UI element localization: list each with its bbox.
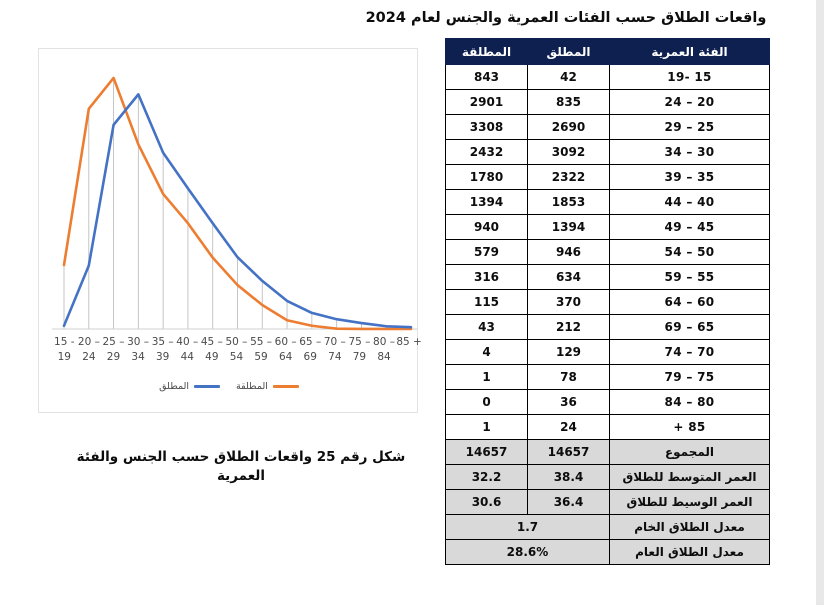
table-row: 60 – 64370115 — [446, 290, 770, 315]
x-tick-label: 40 – — [175, 335, 200, 350]
cell-summary-female: 32.2 — [446, 465, 528, 490]
cell-female-count: 3308 — [446, 115, 528, 140]
table-row: 65 – 6921243 — [446, 315, 770, 340]
cell-age-group: 50 – 54 — [610, 240, 770, 265]
x-tick-label: 30 – — [126, 335, 151, 350]
table-row: 80 – 84360 — [446, 390, 770, 415]
cell-female-count: 940 — [446, 215, 528, 240]
cell-male-count: 212 — [528, 315, 610, 340]
x-tick-label: 15 - — [52, 335, 77, 350]
cell-summary-value: 28.6% — [446, 540, 610, 565]
table-row: 25 – 2926903308 — [446, 115, 770, 140]
cell-male-count: 36 — [528, 390, 610, 415]
legend-item-male-series: المطلق — [159, 381, 220, 392]
x-tick-sublabel: 79 — [347, 350, 372, 365]
x-tick-sublabel: 54 — [224, 350, 249, 365]
cell-age-group: 70 – 74 — [610, 340, 770, 365]
x-tick-sublabel: 84 — [372, 350, 397, 365]
x-tick-label: 65 – — [298, 335, 323, 350]
x-tick-sublabel: 39 — [150, 350, 175, 365]
x-tick-sublabel: 19 — [52, 350, 77, 365]
cell-age-group: 25 – 29 — [610, 115, 770, 140]
cell-female-count: 1394 — [446, 190, 528, 215]
cell-male-count: 2322 — [528, 165, 610, 190]
cell-male-count: 1394 — [528, 215, 610, 240]
chart-plot-area — [39, 49, 419, 343]
x-tick-sublabel: 69 — [298, 350, 323, 365]
x-tick-sublabel: 59 — [249, 350, 274, 365]
x-axis-labels-top: 15 -20 –25 –30 –35 –40 –45 –50 –55 –60 –… — [39, 335, 432, 350]
legend-swatch-icon — [273, 385, 299, 388]
x-tick-sublabel: 74 — [323, 350, 348, 365]
cell-female-count: 843 — [446, 65, 528, 90]
header-age-group: الفئة العمرية — [610, 39, 770, 65]
table-summary-row: معدل الطلاق العام28.6% — [446, 540, 770, 565]
cell-age-group: 20 – 24 — [610, 90, 770, 115]
cell-summary-male: 36.4 — [528, 490, 610, 515]
cell-age-group: 65 – 69 — [610, 315, 770, 340]
header-male: المطلق — [528, 39, 610, 65]
cell-male-count: 129 — [528, 340, 610, 365]
cell-age-group: 15 -19 — [610, 65, 770, 90]
table-row: 70 – 741294 — [446, 340, 770, 365]
x-tick-sublabel: 34 — [126, 350, 151, 365]
x-tick-label: 50 – — [224, 335, 249, 350]
cell-age-group: 80 – 84 — [610, 390, 770, 415]
cell-female-count: 115 — [446, 290, 528, 315]
page-canvas: 15 -20 –25 –30 –35 –40 –45 –50 –55 –60 –… — [0, 0, 824, 605]
table-summary-row: معدل الطلاق الخام1.7 — [446, 515, 770, 540]
x-tick-label: 80 – — [372, 335, 397, 350]
cell-female-count: 2901 — [446, 90, 528, 115]
cell-male-count: 1853 — [528, 190, 610, 215]
x-tick-label: 45 – — [200, 335, 225, 350]
cell-summary-label: المجموع — [610, 440, 770, 465]
cell-male-count: 634 — [528, 265, 610, 290]
cell-female-count: 1780 — [446, 165, 528, 190]
legend-swatch-icon — [194, 385, 220, 388]
cell-summary-female: 14657 — [446, 440, 528, 465]
cell-summary-label: العمر الوسيط للطلاق — [610, 490, 770, 515]
table-row: 40 – 4418531394 — [446, 190, 770, 215]
x-tick-label: 20 – — [77, 335, 102, 350]
figure-caption: شكل رقم 25 واقعات الطلاق حسب الجنس والفئ… — [52, 448, 430, 486]
x-tick-label: 75 – — [347, 335, 372, 350]
cell-female-count: 1 — [446, 415, 528, 440]
cell-age-group: 85 + — [610, 415, 770, 440]
cell-male-count: 3092 — [528, 140, 610, 165]
cell-age-group: 75 – 79 — [610, 365, 770, 390]
x-tick-sublabel: 44 — [175, 350, 200, 365]
cell-female-count: 1 — [446, 365, 528, 390]
cell-age-group: 55 – 59 — [610, 265, 770, 290]
table-body: 15 -194284320 – 24835290125 – 2926903308… — [446, 65, 770, 565]
x-tick-label: 25 – — [101, 335, 126, 350]
legend-label: المطلقة — [236, 381, 268, 392]
cell-summary-female: 30.6 — [446, 490, 528, 515]
cell-summary-label: معدل الطلاق الخام — [610, 515, 770, 540]
x-tick-label: 35 – — [150, 335, 175, 350]
table-row: 75 – 79781 — [446, 365, 770, 390]
table-row: 30 – 3430922432 — [446, 140, 770, 165]
divorce-line-chart: 15 -20 –25 –30 –35 –40 –45 –50 –55 –60 –… — [38, 48, 418, 413]
table-row: 55 – 59634316 — [446, 265, 770, 290]
x-tick-label: 85 + — [396, 335, 421, 350]
cell-age-group: 45 – 49 — [610, 215, 770, 240]
cell-female-count: 43 — [446, 315, 528, 340]
cell-male-count: 370 — [528, 290, 610, 315]
cell-summary-male: 14657 — [528, 440, 610, 465]
cell-age-group: 35 – 39 — [610, 165, 770, 190]
table-head: الفئة العمرية المطلق المطلقة — [446, 39, 770, 65]
cell-summary-label: معدل الطلاق العام — [610, 540, 770, 565]
header-female: المطلقة — [446, 39, 528, 65]
table-row: 50 – 54946579 — [446, 240, 770, 265]
table-header-row: الفئة العمرية المطلق المطلقة — [446, 39, 770, 65]
table-row: 20 – 248352901 — [446, 90, 770, 115]
cell-female-count: 0 — [446, 390, 528, 415]
cell-female-count: 4 — [446, 340, 528, 365]
cell-male-count: 78 — [528, 365, 610, 390]
legend-label: المطلق — [159, 381, 189, 392]
table-row: 15 -1942843 — [446, 65, 770, 90]
x-tick-label: 70 – — [323, 335, 348, 350]
x-tick-sublabel: 49 — [200, 350, 225, 365]
page-edge-strip — [816, 0, 824, 605]
x-axis-labels-bottom: 1924293439444954596469747984 — [39, 350, 432, 365]
chart-legend: المطلقةالمطلق — [39, 381, 419, 392]
legend-item-female-series: المطلقة — [236, 381, 299, 392]
x-tick-sublabel: 24 — [77, 350, 102, 365]
cell-female-count: 316 — [446, 265, 528, 290]
table-row: 85 +241 — [446, 415, 770, 440]
chart-x-axis: 15 -20 –25 –30 –35 –40 –45 –50 –55 –60 –… — [39, 335, 419, 381]
divorce-statistics-table: الفئة العمرية المطلق المطلقة 15 -1942843… — [445, 38, 770, 565]
x-tick-label: 60 – — [273, 335, 298, 350]
x-tick-sublabel — [396, 350, 421, 365]
cell-age-group: 40 – 44 — [610, 190, 770, 215]
table-summary-row: المجموع1465714657 — [446, 440, 770, 465]
cell-age-group: 60 – 64 — [610, 290, 770, 315]
cell-male-count: 946 — [528, 240, 610, 265]
table-summary-row: العمر المتوسط للطلاق38.432.2 — [446, 465, 770, 490]
table-row: 45 – 491394940 — [446, 215, 770, 240]
cell-male-count: 835 — [528, 90, 610, 115]
chart-svg — [39, 49, 419, 343]
cell-male-count: 24 — [528, 415, 610, 440]
table-title: واقعات الطلاق حسب الفئات العمرية والجنس … — [360, 8, 772, 28]
cell-summary-value: 1.7 — [446, 515, 610, 540]
cell-summary-male: 38.4 — [528, 465, 610, 490]
x-tick-sublabel: 64 — [273, 350, 298, 365]
cell-summary-label: العمر المتوسط للطلاق — [610, 465, 770, 490]
x-tick-label: 55 – — [249, 335, 274, 350]
table-summary-row: العمر الوسيط للطلاق36.430.6 — [446, 490, 770, 515]
x-tick-sublabel: 29 — [101, 350, 126, 365]
cell-male-count: 42 — [528, 65, 610, 90]
table-row: 35 – 3923221780 — [446, 165, 770, 190]
cell-male-count: 2690 — [528, 115, 610, 140]
cell-female-count: 579 — [446, 240, 528, 265]
cell-age-group: 30 – 34 — [610, 140, 770, 165]
cell-female-count: 2432 — [446, 140, 528, 165]
